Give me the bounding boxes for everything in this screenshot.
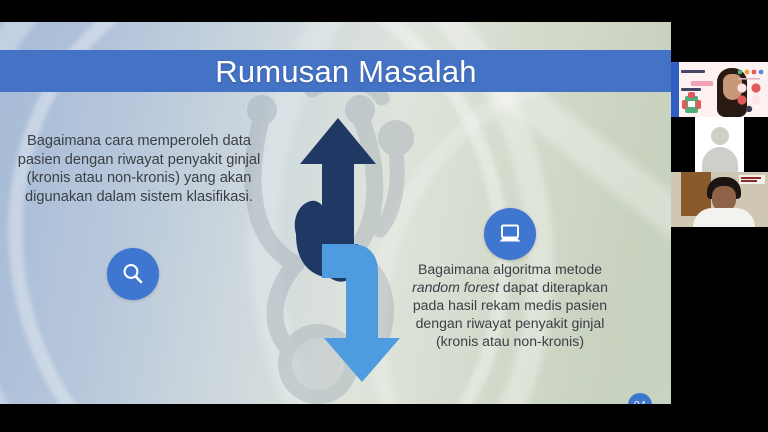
slide-title-bar: Rumusan Masalah [0, 50, 692, 92]
laptop-icon-badge [484, 208, 536, 260]
wall-sign [739, 175, 765, 184]
screen: Rumusan Masalah Bagaimana cara memperole… [0, 0, 768, 432]
video-tile-presenter-main[interactable] [671, 62, 768, 117]
right-question-text: Bagaimana algoritma metode random forest… [396, 260, 624, 350]
presentation-slide: Rumusan Masalah Bagaimana cara memperole… [0, 22, 692, 404]
participant-shirt [693, 208, 755, 227]
video-tile-participant-no-video[interactable] [671, 117, 768, 172]
video-tile-participant-second[interactable] [671, 172, 768, 227]
avatar-icon [711, 127, 729, 145]
page-number-badge: 04 [628, 393, 652, 404]
virtual-background-accent-bar [671, 62, 679, 117]
virtual-background-icons [736, 68, 764, 112]
video-panel-column [671, 0, 768, 432]
search-icon [120, 261, 146, 287]
right-text-before: Bagaimana algoritma metode [418, 261, 602, 277]
left-question-text: Bagaimana cara memperoleh data pasien de… [14, 132, 264, 207]
right-text-italic: random forest [412, 279, 499, 295]
virtual-background-text [681, 69, 711, 93]
virtual-background-illustration [679, 92, 705, 114]
laptop-icon [496, 220, 524, 248]
page-title: Rumusan Masalah [215, 56, 476, 87]
search-icon-badge [107, 248, 159, 300]
